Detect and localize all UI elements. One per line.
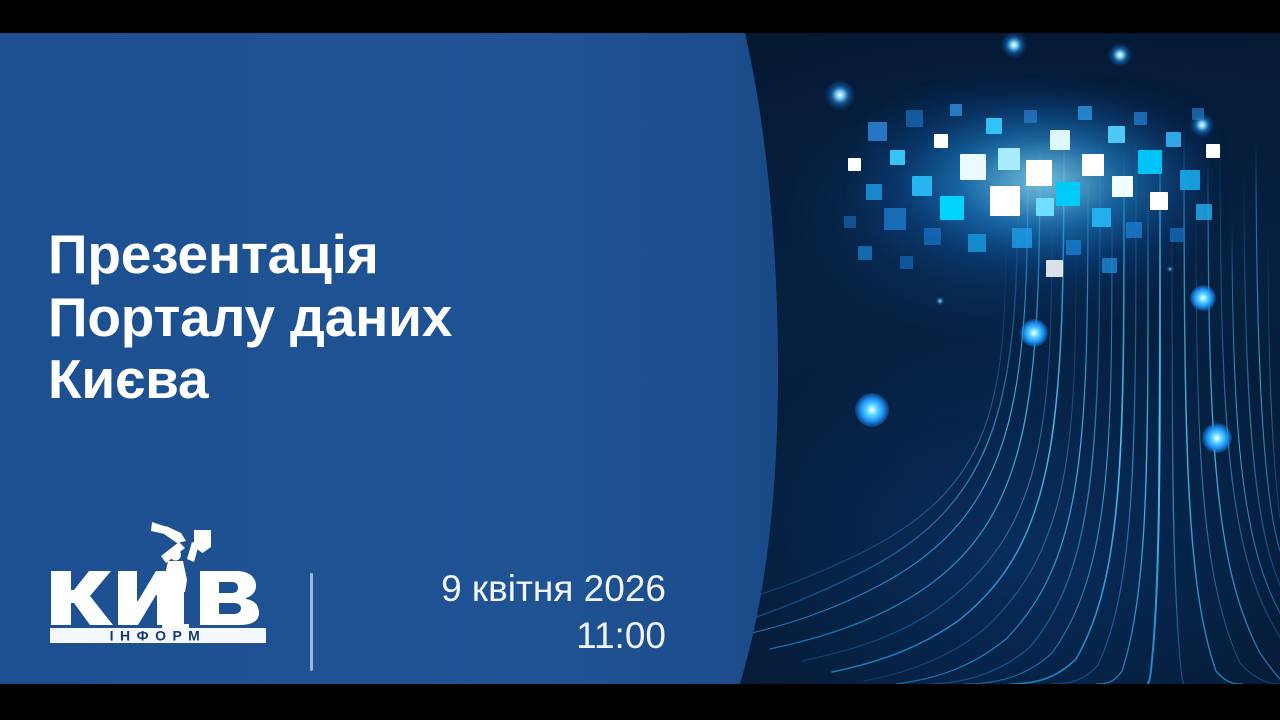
letterbox-bottom — [0, 684, 1280, 720]
letterbox-top — [0, 0, 1280, 33]
presentation-slide: Презентація Порталу даних Києва — [0, 0, 1280, 720]
event-time: 11:00 — [348, 613, 666, 660]
event-date: 9 квітня 2026 — [348, 566, 666, 613]
glow-point-right — [1190, 285, 1216, 311]
pixel-mosaic-graphic — [840, 88, 1230, 283]
slide-content: Презентація Порталу даних Києва — [0, 33, 760, 684]
logo-wordmark — [51, 571, 259, 625]
logo-sub-wordmark: ІНФОРМ — [110, 628, 207, 644]
slide-canvas: Презентація Порталу даних Києва — [0, 33, 1280, 684]
glow-point-far-right — [1202, 423, 1232, 453]
footer-divider — [310, 573, 313, 671]
kyiv-inform-logo: ІНФОРМ — [48, 518, 266, 643]
page-title: Презентація Порталу даних Києва — [48, 223, 668, 411]
glow-point-left — [855, 393, 889, 427]
event-datetime: 9 квітня 2026 11:00 — [348, 566, 666, 660]
slide-footer: ІНФОРМ 9 квітня 2026 11:00 — [48, 488, 668, 673]
glow-point-center — [1020, 319, 1048, 347]
